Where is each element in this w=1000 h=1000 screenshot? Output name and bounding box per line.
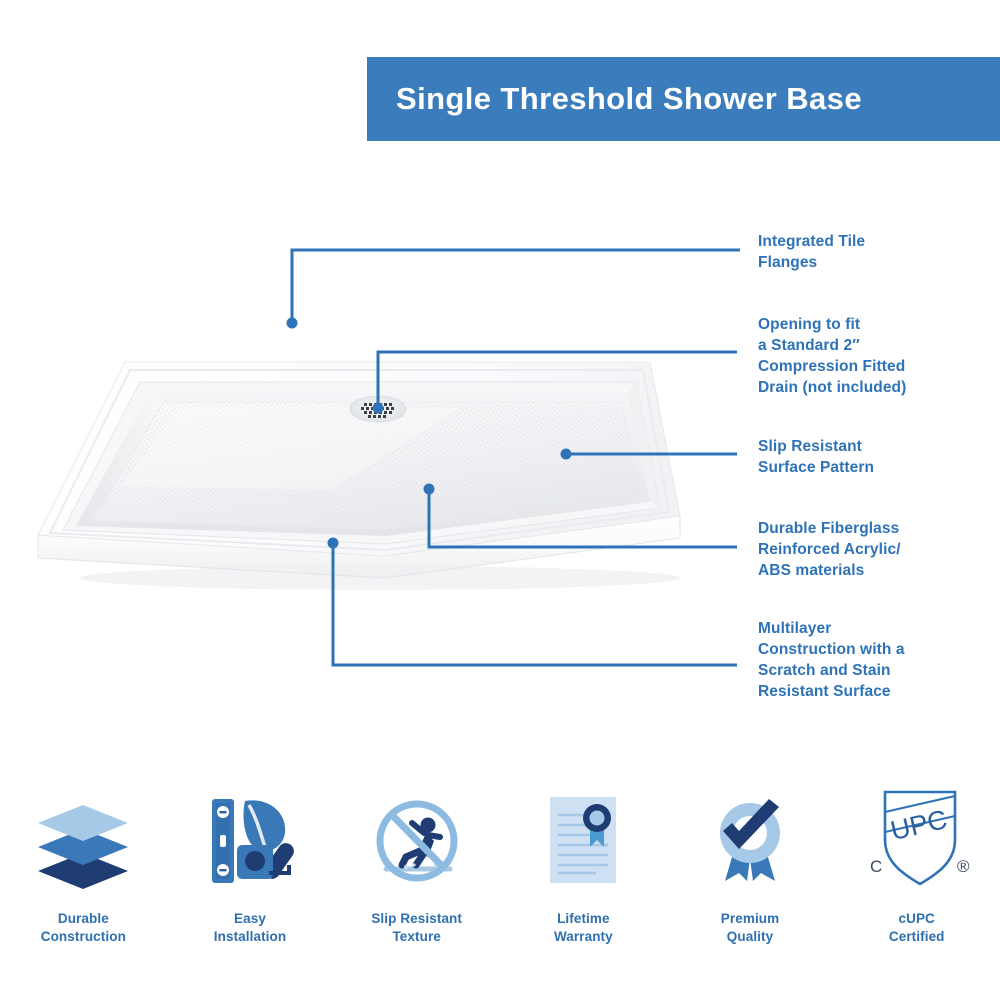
product-image-shower-base <box>30 290 710 590</box>
feature-label: Slip Resistant Texture <box>371 910 462 946</box>
check-ribbon-icon <box>690 780 810 900</box>
upc-prefix-text: C <box>870 857 882 876</box>
feature-slip-resistant-texture: Slip Resistant Texture <box>333 780 500 970</box>
no-slip-icon <box>357 780 477 900</box>
feature-label: Durable Construction <box>41 910 126 946</box>
feature-easy-installation: Easy Installation <box>167 780 334 970</box>
page-title: Single Threshold Shower Base <box>367 81 862 117</box>
drain-opening-graphic <box>350 396 406 422</box>
feature-durable-construction: Durable Construction <box>0 780 167 970</box>
callout-label-durable-materials: Durable Fiberglass Reinforced Acrylic/ A… <box>758 518 901 581</box>
feature-label: Lifetime Warranty <box>554 910 613 946</box>
header-banner: Single Threshold Shower Base <box>367 57 1000 141</box>
feature-label: cUPC Certified <box>889 910 945 946</box>
feature-label: Easy Installation <box>214 910 286 946</box>
layers-icon <box>23 780 143 900</box>
callout-label-slip-resistant-surface: Slip Resistant Surface Pattern <box>758 436 874 478</box>
callout-label-integrated-tile-flanges: Integrated Tile Flanges <box>758 231 865 273</box>
certificate-icon <box>523 780 643 900</box>
upc-shield-icon: UPC C ® <box>857 780 977 900</box>
infographic-canvas: Single Threshold Shower Base <box>0 0 1000 1000</box>
upc-registered-text: ® <box>957 857 970 876</box>
callout-label-drain-opening: Opening to fit a Standard 2″ Compression… <box>758 314 906 398</box>
feature-premium-quality: Premium Quality <box>667 780 834 970</box>
feature-label: Premium Quality <box>721 910 779 946</box>
feature-lifetime-warranty: Lifetime Warranty <box>500 780 667 970</box>
level-trowel-icon <box>190 780 310 900</box>
callout-label-multilayer-construction: Multilayer Construction with a Scratch a… <box>758 618 905 702</box>
feature-cupc-certified: UPC C ® cUPC Certified <box>833 780 1000 970</box>
feature-badges-row: Durable Construction <box>0 780 1000 970</box>
upc-mark-text: UPC <box>887 804 949 846</box>
